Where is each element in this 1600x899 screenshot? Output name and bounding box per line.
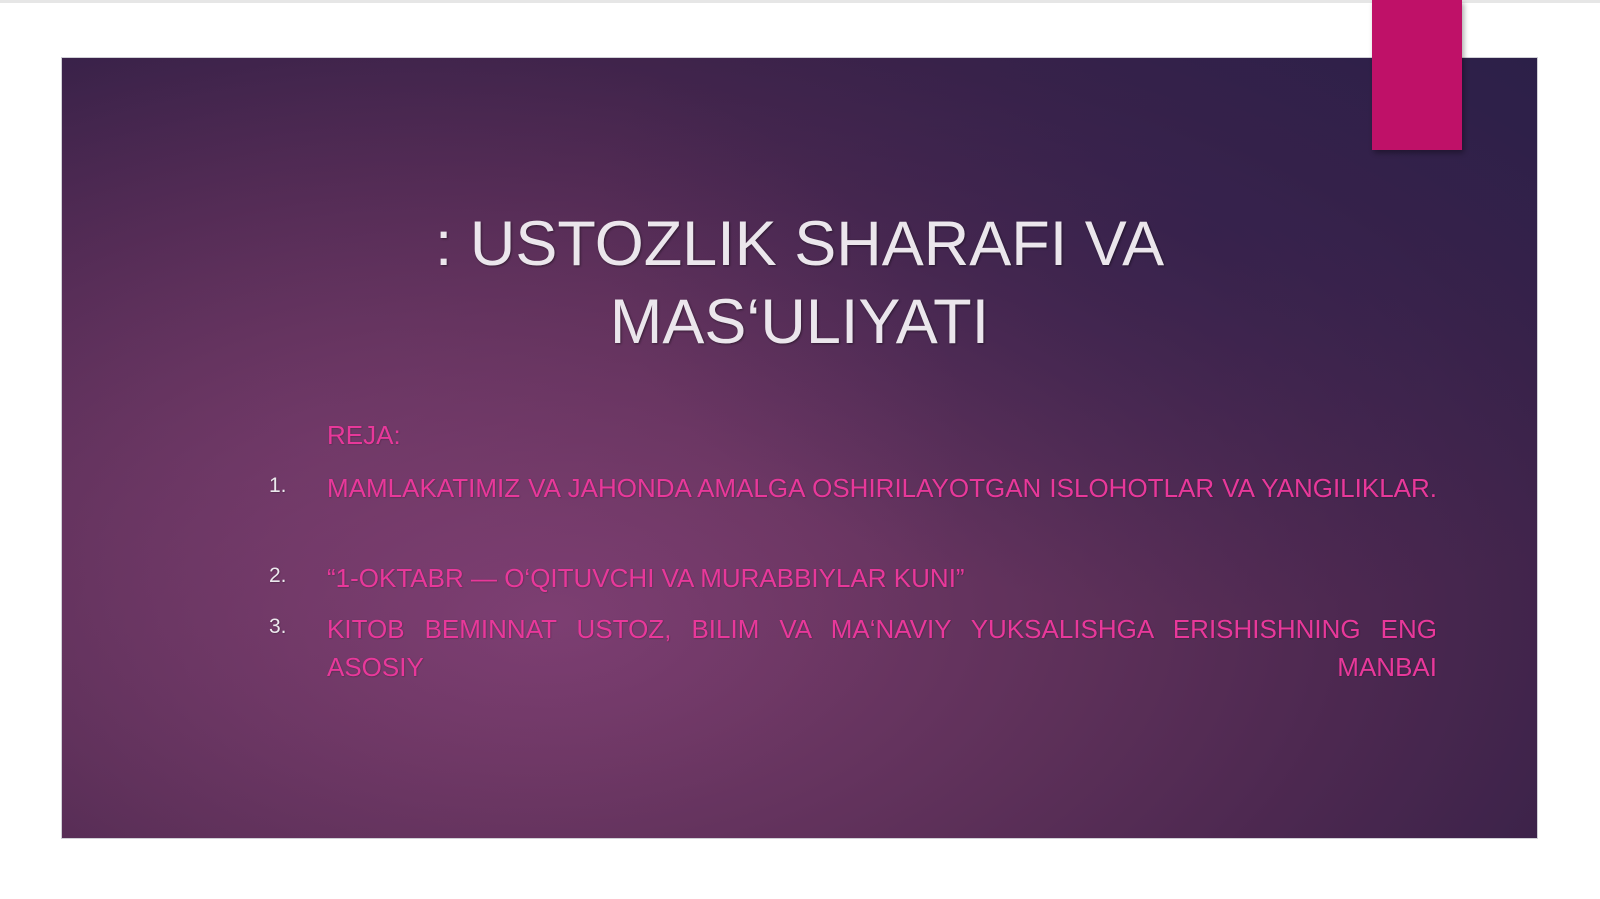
slide-title-line-2: MAS‘ULIYATI [262,283,1337,361]
list-item: 2. “1-OKTABR — O‘QITUVCHI VA MURABBIYLAR… [267,559,1437,597]
list-item-number: 3. [269,612,303,643]
reja-label: REJA: [327,420,1437,451]
list-item: 1. MAMLAKATIMIZ VA JAHONDA AMALGA OSHIRI… [267,469,1437,545]
list-item-text: MAMLAKATIMIZ VA JAHONDA AMALGA OSHIRILAY… [327,473,1437,503]
presentation-slide: : USTOZLIK SHARAFI VA MAS‘ULIYATI REJA: … [62,58,1537,838]
list-item-number: 2. [269,561,303,592]
list-item-text: “1-OKTABR — O‘QITUVCHI VA MURABBIYLAR KU… [327,563,965,593]
slide-body: REJA: 1. MAMLAKATIMIZ VA JAHONDA AMALGA … [267,420,1437,725]
top-hairline [0,0,1600,3]
slide-title-line-1: : USTOZLIK SHARAFI VA [262,205,1337,283]
slide-title: : USTOZLIK SHARAFI VA MAS‘ULIYATI [262,205,1337,361]
list-item: 3. KITOB BEMINNAT USTOZ, BILIM VA MA‘NAV… [267,610,1437,725]
list-item-number: 1. [269,471,303,502]
accent-block-magenta [1372,0,1462,150]
reja-list: 1. MAMLAKATIMIZ VA JAHONDA AMALGA OSHIRI… [267,469,1437,724]
list-item-text: KITOB BEMINNAT USTOZ, BILIM VA MA‘NAVIY … [327,614,1437,682]
